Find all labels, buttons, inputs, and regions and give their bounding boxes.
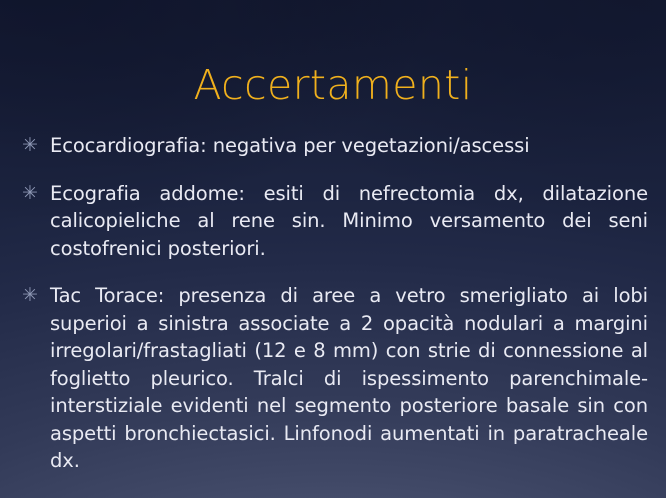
slide-content: Accertamenti ✳ Ecocardiografia: negativa… [0,0,666,498]
bullet-list: ✳ Ecocardiografia: negativa per vegetazi… [18,132,648,475]
list-item: ✳ Ecocardiografia: negativa per vegetazi… [18,132,648,160]
page-title: Accertamenti [0,63,666,109]
asterisk-bullet-icon: ✳ [20,282,40,308]
bullet-item-text: Ecografia addome: esiti di nefrectomia d… [50,180,648,263]
asterisk-bullet-icon: ✳ [20,132,40,158]
bullet-item-text: Ecocardiografia: negativa per vegetazion… [50,132,648,160]
list-item: ✳ Tac Torace: presenza di aree a vetro s… [18,282,648,475]
list-item: ✳ Ecografia addome: esiti di nefrectomia… [18,180,648,263]
asterisk-bullet-icon: ✳ [20,180,40,206]
bullet-item-text: Tac Torace: presenza di aree a vetro sme… [50,282,648,475]
presentation-slide: Accertamenti ✳ Ecocardiografia: negativa… [0,0,666,498]
